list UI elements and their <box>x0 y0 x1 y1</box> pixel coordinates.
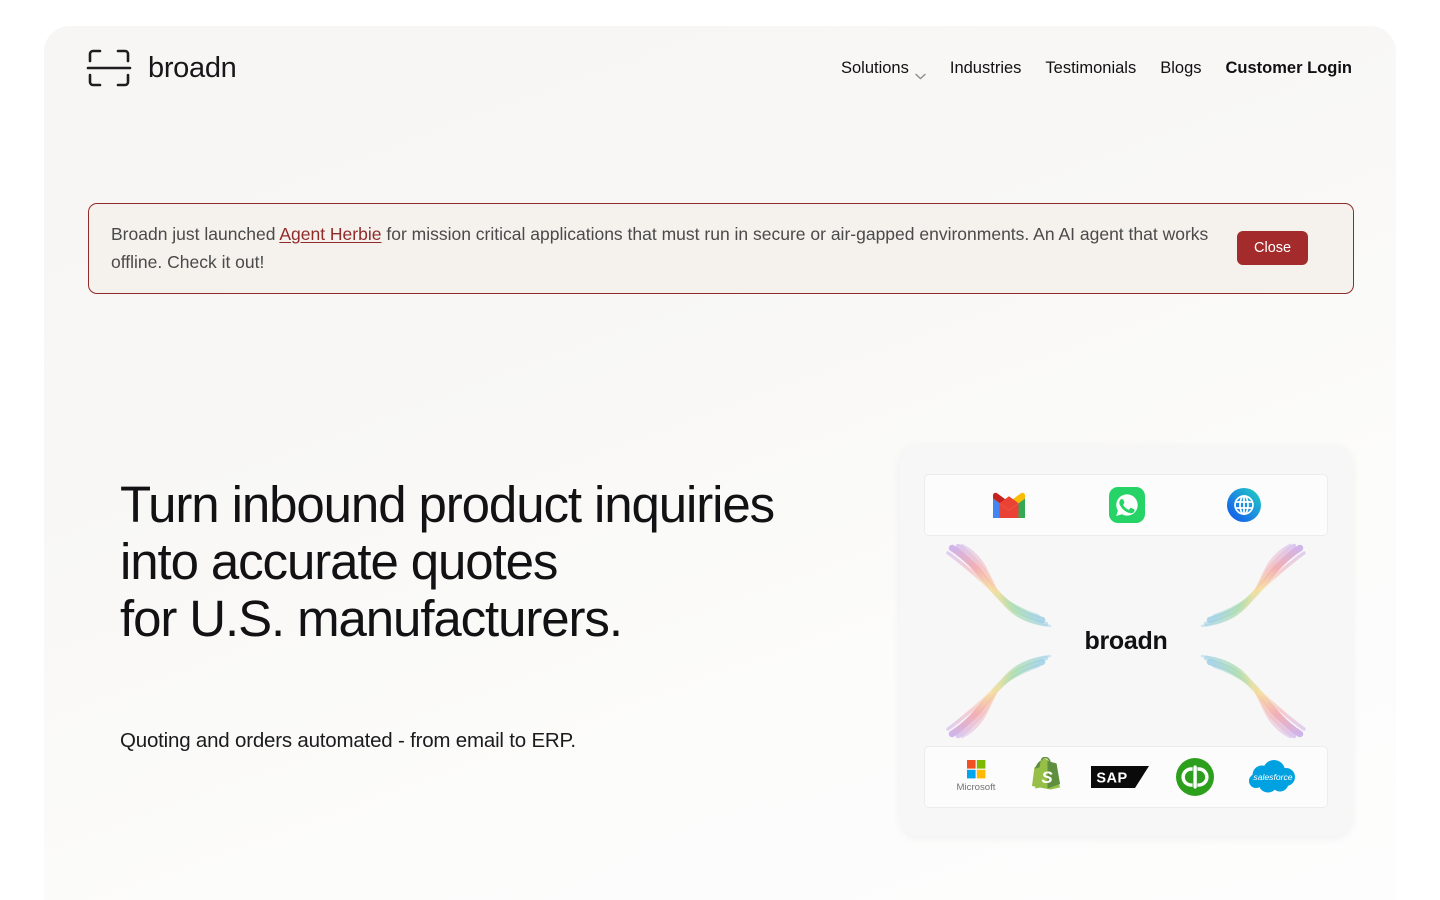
microsoft-logo: Microsoft <box>950 757 1002 797</box>
svg-text:Microsoft: Microsoft <box>957 782 996 793</box>
hero-title-line-2: for U.S. manufacturers. <box>120 590 622 647</box>
scan-frame-icon <box>86 47 132 89</box>
nav-item-customer-login[interactable]: Customer Login <box>1226 59 1353 78</box>
page-content-card: broadn Solutions Industries Testimonials… <box>44 26 1396 900</box>
gmail-icon <box>990 491 1028 520</box>
announcement-text: Broadn just launched Agent Herbie for mi… <box>111 220 1221 277</box>
announcement-banner: Broadn just launched Agent Herbie for mi… <box>88 203 1354 294</box>
svg-text:salesforce: salesforce <box>1253 772 1292 782</box>
nav-item-industries[interactable]: Industries <box>950 59 1022 78</box>
svg-text:S: S <box>1041 768 1053 787</box>
hero-section: Turn inbound product inquiries into accu… <box>44 446 1396 836</box>
hero-copy: Turn inbound product inquiries into accu… <box>120 446 810 753</box>
hero-title-line-1: Turn inbound product inquiries into accu… <box>120 476 774 590</box>
agent-herbie-link[interactable]: Agent Herbie <box>279 224 381 244</box>
hero-subtitle: Quoting and orders automated - from emai… <box>120 729 810 753</box>
whatsapp-icon <box>1109 487 1145 523</box>
nav-item-solutions-label: Solutions <box>841 59 909 78</box>
integrations-strip: Microsoft S <box>924 746 1328 808</box>
shopify-logo: S <box>1029 757 1065 797</box>
channel-strip <box>924 474 1328 536</box>
svg-text:SAP: SAP <box>1096 771 1127 787</box>
globe-icon <box>1226 487 1262 523</box>
announcement-text-before: Broadn just launched <box>111 224 279 244</box>
close-button[interactable]: Close <box>1237 231 1308 265</box>
nav-item-testimonials[interactable]: Testimonials <box>1045 59 1136 78</box>
chevron-down-icon <box>915 66 926 73</box>
site-header: broadn Solutions Industries Testimonials… <box>44 26 1396 110</box>
brand-logo[interactable]: broadn <box>86 47 237 89</box>
page-title: Turn inbound product inquiries into accu… <box>120 476 810 647</box>
sap-logo: SAP <box>1091 764 1149 790</box>
nav-item-solutions[interactable]: Solutions <box>841 59 926 78</box>
brand-name: broadn <box>148 52 237 85</box>
quickbooks-logo <box>1175 757 1215 797</box>
salesforce-logo: salesforce <box>1242 757 1302 797</box>
hero-graphic-card: broadn Microsoft <box>900 446 1352 836</box>
nav-item-blogs[interactable]: Blogs <box>1160 59 1201 78</box>
center-stage: broadn <box>924 536 1328 746</box>
main-navigation: Solutions Industries Testimonials Blogs … <box>841 59 1352 78</box>
graphic-center-label: broadn <box>1085 627 1168 656</box>
